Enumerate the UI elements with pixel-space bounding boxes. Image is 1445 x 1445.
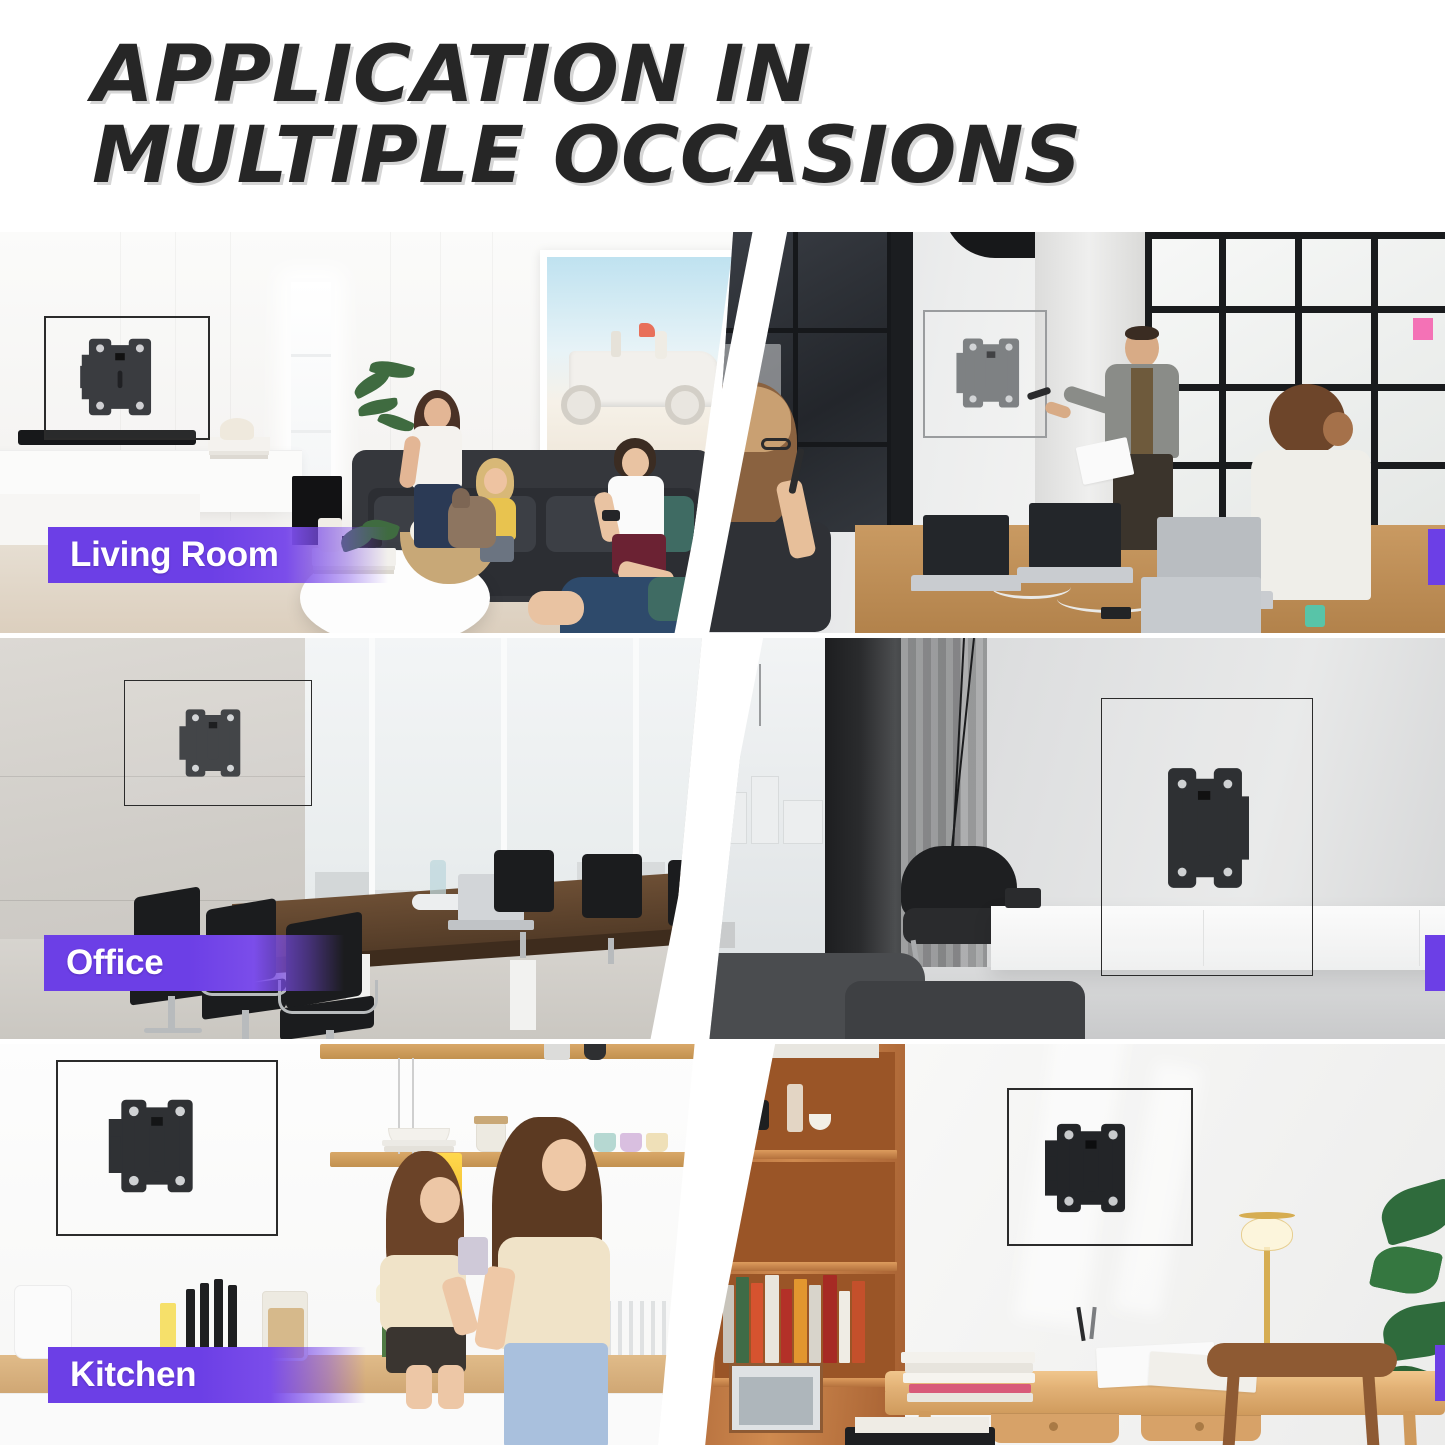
tv-wall-mount-icon — [108, 1092, 206, 1200]
tv-wall-mount-icon — [80, 334, 160, 420]
desk-chair — [1207, 1343, 1397, 1445]
badge-kitchen: Kitchen — [48, 1347, 222, 1403]
wall-shelf — [320, 1044, 735, 1059]
scene-meeting — [705, 232, 1445, 633]
panel-kitchen[interactable]: Kitchen — [0, 1044, 735, 1445]
tv-wall-mount-icon — [955, 334, 1027, 412]
scenario-row-3: Kitchen — [0, 1044, 1445, 1445]
office-chair — [578, 854, 650, 964]
page-title-line-1: APPLICATION IN — [92, 38, 1445, 113]
scenario-grid: Living Room — [0, 232, 1445, 1445]
person-attendee-right — [1251, 384, 1379, 604]
tv-wall-mount-icon — [1045, 1116, 1137, 1220]
badge-meeting: Meeting — [1428, 529, 1445, 585]
badge-label: Living Room — [70, 535, 279, 575]
camera-decor — [1005, 888, 1041, 908]
panel-meeting[interactable]: Meeting — [705, 232, 1445, 633]
page-title-line-2: MULTIPLE OCCASIONS — [92, 119, 1445, 194]
badge-living-room: Living Room — [48, 527, 305, 583]
scenario-row-1: Living Room — [0, 232, 1445, 633]
office-chair — [490, 850, 562, 960]
badge-bedroom: Bedroon — [1425, 935, 1445, 991]
badge-background — [1428, 529, 1445, 585]
tv-wall-mount-icon — [1161, 760, 1249, 896]
decor-object — [220, 418, 254, 440]
panel-living-room[interactable]: Living Room — [0, 232, 735, 633]
frame-pillar — [891, 232, 913, 542]
page-header: APPLICATION IN MULTIPLE OCCASIONS — [0, 0, 1445, 232]
badge-background — [1425, 935, 1445, 991]
tv-wall-mount-icon — [178, 700, 248, 786]
badge-background — [1435, 1345, 1445, 1401]
cup — [458, 1237, 488, 1275]
badge-study-desk: Study Desk — [1435, 1345, 1445, 1401]
bed-blanket — [845, 981, 1085, 1039]
badge-label: Kitchen — [70, 1355, 196, 1395]
marketing-infographic: APPLICATION IN MULTIPLE OCCASIONS — [0, 0, 1445, 1445]
panel-office[interactable]: Office — [0, 638, 735, 1039]
scene-bedroom — [705, 638, 1445, 1039]
panel-study-desk[interactable]: Study Desk — [705, 1044, 1445, 1445]
scenario-row-2: Office — [0, 638, 1445, 1039]
badge-label: Office — [66, 943, 163, 983]
knife-block — [186, 1275, 242, 1357]
scene-study-desk — [705, 1044, 1445, 1445]
panel-bedroom[interactable]: Bedroon — [705, 638, 1445, 1039]
badge-office: Office — [44, 935, 189, 991]
person-adult — [478, 1117, 646, 1445]
